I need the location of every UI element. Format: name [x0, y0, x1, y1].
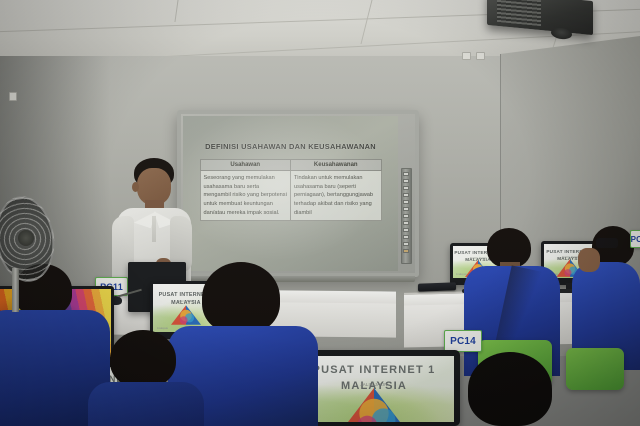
pyramid-logo-icon — [171, 305, 201, 325]
slide-title: DEFINISI USAHAWAN DAN KEUSAHAWANAN — [193, 142, 388, 151]
table-col-keusahawanan: Keusahawanan — [291, 160, 382, 171]
whiteboard-button[interactable] — [403, 179, 409, 183]
desktop-wallpaper: PUSAT INTERNET 1 MALAYSIA JALIN JALIN — [294, 356, 454, 422]
cell-usahawan-definition: Seseorang yang memulakan usahasama baru … — [200, 171, 291, 221]
whiteboard-button[interactable] — [403, 186, 409, 190]
wallpaper-footer: 1malaysia — [157, 327, 168, 330]
whiteboard-button[interactable] — [403, 193, 409, 197]
keyboard[interactable] — [418, 282, 456, 291]
table-row: Seseorang yang memulakan usahasama baru … — [200, 171, 381, 221]
fan-hub — [18, 230, 34, 246]
pc-label-tag: PC14 — [444, 330, 482, 352]
monitor-screen[interactable]: PUSAT INTERNET 1 MALAYSIA JALIN JALIN — [294, 356, 454, 422]
student-head — [468, 352, 552, 426]
wallpaper-subtitle: JALIN JALIN — [294, 382, 454, 387]
whiteboard-button[interactable] — [403, 172, 409, 176]
student-shirt — [88, 382, 204, 426]
student-head — [110, 330, 176, 388]
whiteboard-button[interactable] — [403, 249, 409, 253]
cell-keusahawanan-definition: Tindakan untuk memulakan usahasama baru … — [291, 171, 382, 221]
wall-socket-icon — [462, 52, 471, 60]
whiteboard-button[interactable] — [403, 235, 409, 239]
pc-label-tag: PC15 — [630, 230, 640, 248]
presenter-ear — [132, 182, 139, 192]
presentation-slide: DEFINISI USAHAWAN DAN KEUSAHAWANAN Usaha… — [183, 116, 398, 271]
whiteboard-button[interactable] — [403, 221, 409, 225]
fan-pole — [12, 268, 19, 312]
photo-scene: DEFINISI USAHAWAN DAN KEUSAHAWANAN Usaha… — [0, 0, 640, 426]
projector-vent — [497, 0, 541, 26]
whiteboard-button[interactable] — [403, 200, 409, 204]
chair[interactable] — [566, 348, 624, 390]
whiteboard-button[interactable] — [403, 207, 409, 211]
whiteboard-button[interactable] — [403, 228, 409, 232]
table-col-usahawan: Usahawan — [200, 160, 291, 171]
wallpaper-footer: 1malaysia — [456, 273, 467, 276]
table-header-row: Usahawan Keusahawanan — [200, 160, 381, 171]
whiteboard-button[interactable] — [403, 214, 409, 218]
wallpaper-title-line1: PUSAT INTERNET 1 — [313, 364, 436, 376]
student-glasses-icon — [596, 238, 618, 248]
wall-socket-icon — [476, 52, 485, 60]
slide-table: Usahawan Keusahawanan Seseorang yang mem… — [200, 159, 382, 221]
pyramid-logo-icon — [337, 388, 411, 422]
whiteboard-screen[interactable]: DEFINISI USAHAWAN DAN KEUSAHAWANAN Usaha… — [183, 116, 398, 271]
whiteboard-button[interactable] — [403, 242, 409, 246]
student-head — [202, 262, 280, 334]
presenter-placket — [152, 216, 156, 242]
student-face — [578, 248, 600, 272]
wall-socket-icon — [9, 92, 17, 101]
